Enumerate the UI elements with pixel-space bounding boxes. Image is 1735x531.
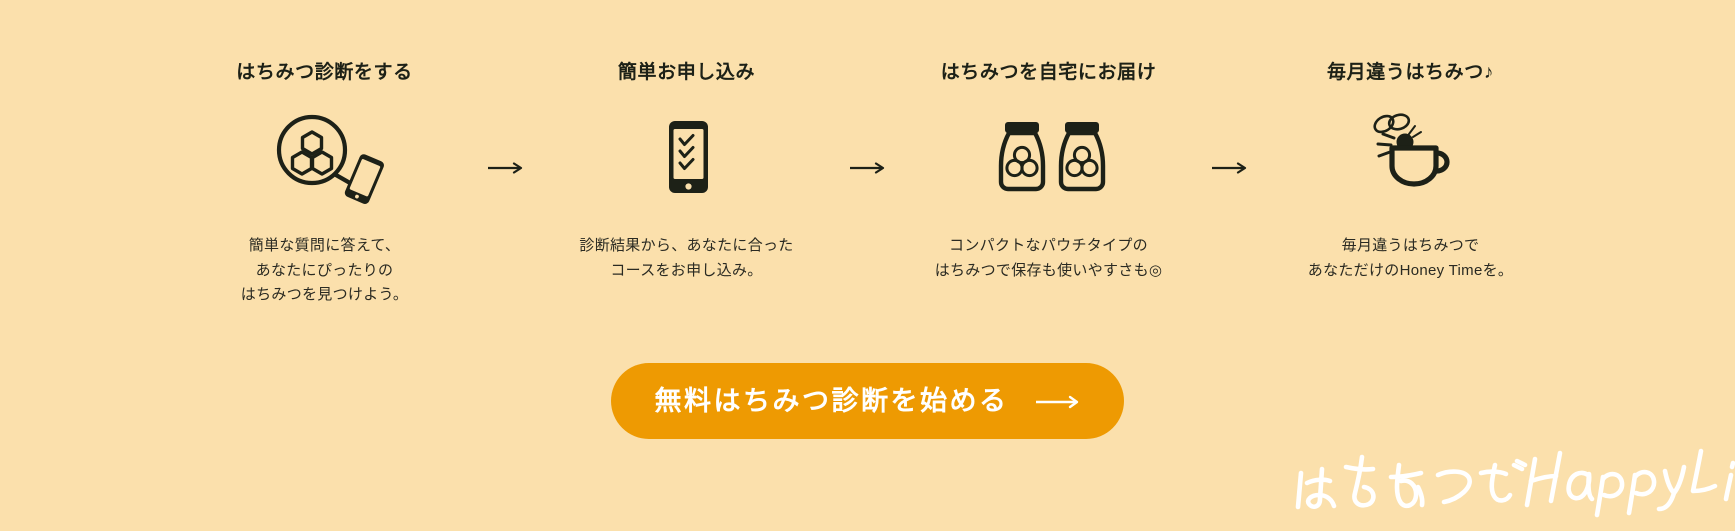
start-free-diagnosis-button[interactable]: 無料はちみつ診断を始める [611,363,1124,439]
step-item-3: はちみつを自宅にお届け [924,62,1174,283]
step-desc-line: コンパクトなパウチタイプの [935,234,1163,259]
step-separator-3 [1174,62,1286,174]
step-description-4: 毎月違うはちみつで あなただけのHoney Timeを。 [1308,234,1513,284]
step-desc-line: 簡単な質問に答えて、 [241,234,408,259]
step-desc-line: あなただけのHoney Timeを。 [1308,259,1513,284]
step-desc-line: はちみつで保存も使いやすさも◎ [935,259,1163,284]
step-separator-2 [812,62,924,174]
step-title-3: はちみつを自宅にお届け [941,62,1157,85]
step-desc-line: コースをお申し込み。 [579,259,793,284]
arrow-right-icon [850,162,886,174]
bee-and-cup-icon [1348,105,1474,210]
step-desc-line: 毎月違うはちみつで [1308,234,1513,259]
step-description-2: 診断結果から、あなたに合った コースをお申し込み。 [579,234,793,284]
step-title-4: 毎月違うはちみつ♪ [1327,62,1494,85]
arrow-right-icon [1212,162,1248,174]
arrow-right-icon [488,162,524,174]
handwritten-tagline: はちみつでHappy Life！ [1289,443,1719,529]
step-desc-line: はちみつを見つけよう。 [241,283,408,308]
step-description-3: コンパクトなパウチタイプの はちみつで保存も使いやすさも◎ [935,234,1163,284]
step-item-4: 毎月違うはちみつ♪ [1286,62,1536,283]
step-title-2: 簡単お申し込み [618,62,755,85]
smartphone-checklist-icon [628,105,746,210]
step-title-1: はちみつ診断をする [236,62,412,85]
step-desc-line: 診断結果から、あなたに合った [579,234,793,259]
cta-label: 無料はちみつ診断を始める [655,388,1009,415]
promo-steps-section: はちみつ診断をする [0,0,1735,531]
step-item-2: 簡単お申し込み 診断結果から、あなたに合った コースをお申し込み。 [562,62,812,283]
honey-pouch-jars-icon [985,105,1113,210]
steps-row: はちみつ診断をする [0,62,1735,308]
step-separator-1 [450,62,562,174]
step-desc-line: あなたにぴったりの [241,259,408,284]
arrow-right-icon [1035,395,1081,409]
magnifier-honeycomb-phone-icon [266,105,384,210]
cta-container: 無料はちみつ診断を始める [0,363,1735,439]
step-item-1: はちみつ診断をする [200,62,450,308]
step-description-1: 簡単な質問に答えて、 あなたにぴったりの はちみつを見つけよう。 [241,234,408,308]
